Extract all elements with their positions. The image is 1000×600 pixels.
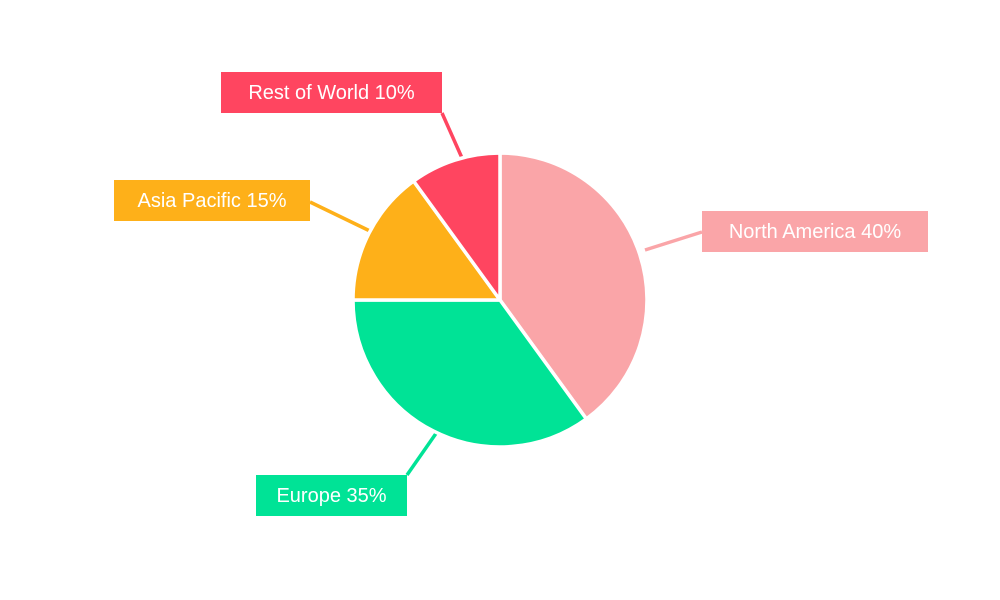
pie-slice-label: Rest of World 10% — [221, 72, 442, 113]
pie-slice-label: Europe 35% — [256, 475, 407, 516]
pie-label-leader-line — [645, 232, 702, 250]
pie-slice-group — [353, 153, 647, 447]
pie-label-leader-line — [407, 432, 437, 475]
pie-chart-canvas — [0, 0, 1000, 600]
pie-slice-label: North America 40% — [702, 211, 928, 252]
pie-chart: North America 40%Europe 35%Asia Pacific … — [0, 0, 1000, 600]
pie-label-leader-line — [442, 113, 462, 158]
pie-slice-label: Asia Pacific 15% — [114, 180, 310, 221]
pie-label-leader-line — [310, 202, 372, 232]
